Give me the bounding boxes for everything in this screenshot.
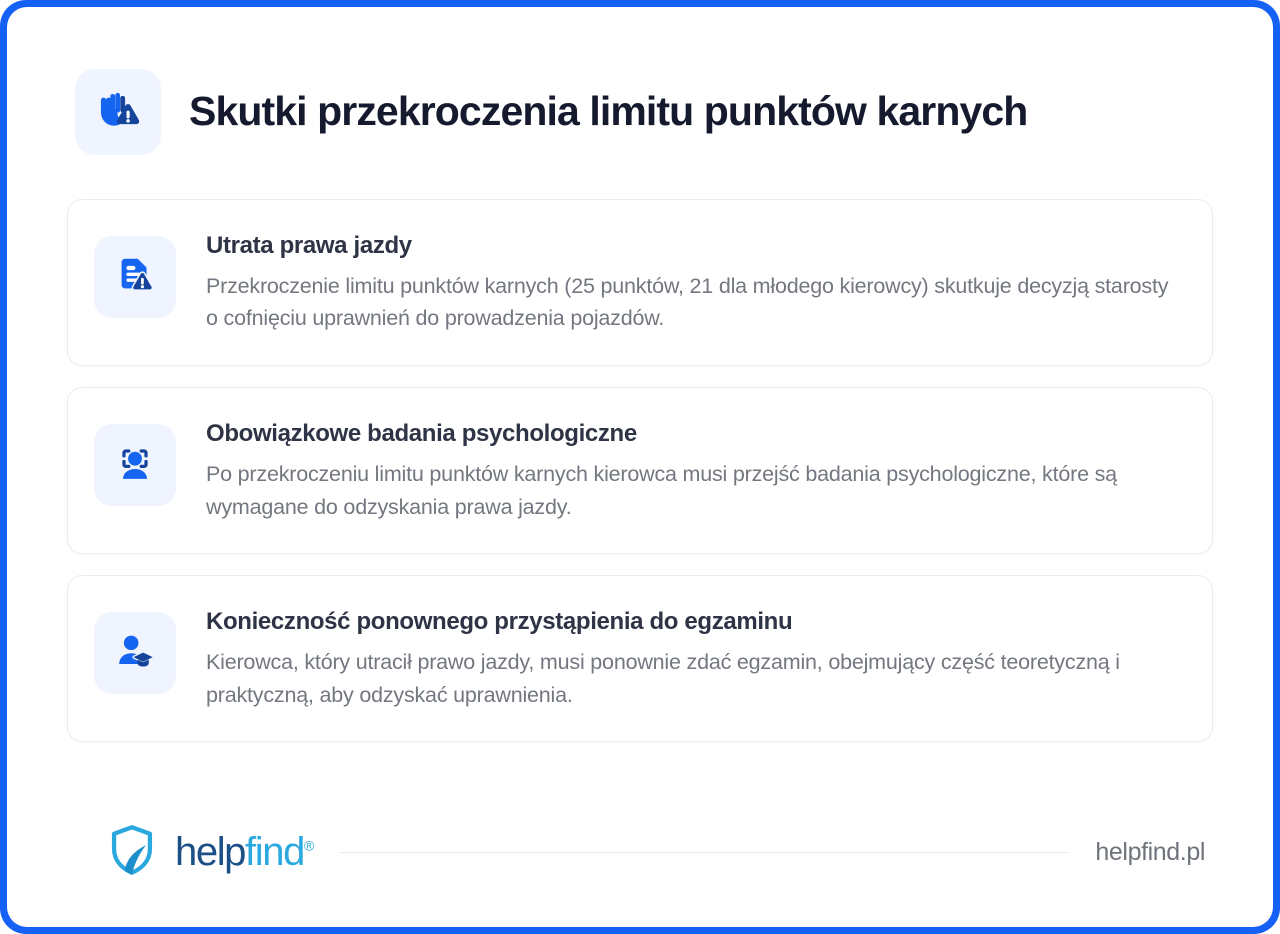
footer: helpfind® helpfind.pl	[67, 777, 1213, 927]
footer-divider	[340, 852, 1069, 853]
registered-mark: ®	[304, 838, 314, 854]
card-text: Po przekroczeniu limitu punktów karnych …	[206, 458, 1178, 523]
card-body: Konieczność ponownego przystąpienia do e…	[206, 606, 1178, 711]
card-list: Utrata prawa jazdy Przekroczenie limitu …	[67, 199, 1213, 742]
page-title: Skutki przekroczenia limitu punktów karn…	[189, 89, 1027, 135]
logo-find-text: find	[245, 830, 304, 874]
card-text: Przekroczenie limitu punktów karnych (25…	[206, 270, 1178, 335]
header: Skutki przekroczenia limitu punktów karn…	[67, 69, 1213, 155]
helpfind-logo: helpfind®	[101, 819, 314, 886]
card-text: Kierowca, który utracił prawo jazdy, mus…	[206, 646, 1178, 711]
infographic-canvas: Skutki przekroczenia limitu punktów karn…	[7, 7, 1273, 927]
card-badania-psychologiczne: Obowiązkowe badania psychologiczne Po pr…	[67, 387, 1213, 554]
card-title: Utrata prawa jazdy	[206, 232, 1178, 261]
hand-stop-warning-icon	[93, 85, 143, 140]
card-icon-tile	[94, 612, 176, 694]
card-ponowny-egzamin: Konieczność ponownego przystąpienia do e…	[67, 575, 1213, 742]
card-utrata-prawa-jazdy: Utrata prawa jazdy Przekroczenie limitu …	[67, 199, 1213, 366]
logo-help-text: help	[175, 830, 245, 874]
card-body: Utrata prawa jazdy Przekroczenie limitu …	[206, 230, 1178, 335]
header-icon-tile	[75, 69, 161, 155]
card-icon-tile	[94, 236, 176, 318]
card-title: Konieczność ponownego przystąpienia do e…	[206, 608, 1178, 637]
card-icon-tile	[94, 424, 176, 506]
shield-check-icon	[101, 819, 163, 886]
footer-domain: helpfind.pl	[1095, 838, 1205, 867]
card-title: Obowiązkowe badania psychologiczne	[206, 420, 1178, 449]
document-warning-icon	[112, 252, 158, 303]
card-body: Obowiązkowe badania psychologiczne Po pr…	[206, 418, 1178, 523]
logo-wordmark: helpfind®	[175, 832, 314, 872]
infographic-frame: Skutki przekroczenia limitu punktów karn…	[0, 0, 1280, 934]
person-graduation-icon	[112, 628, 158, 679]
person-scan-icon	[112, 440, 158, 491]
